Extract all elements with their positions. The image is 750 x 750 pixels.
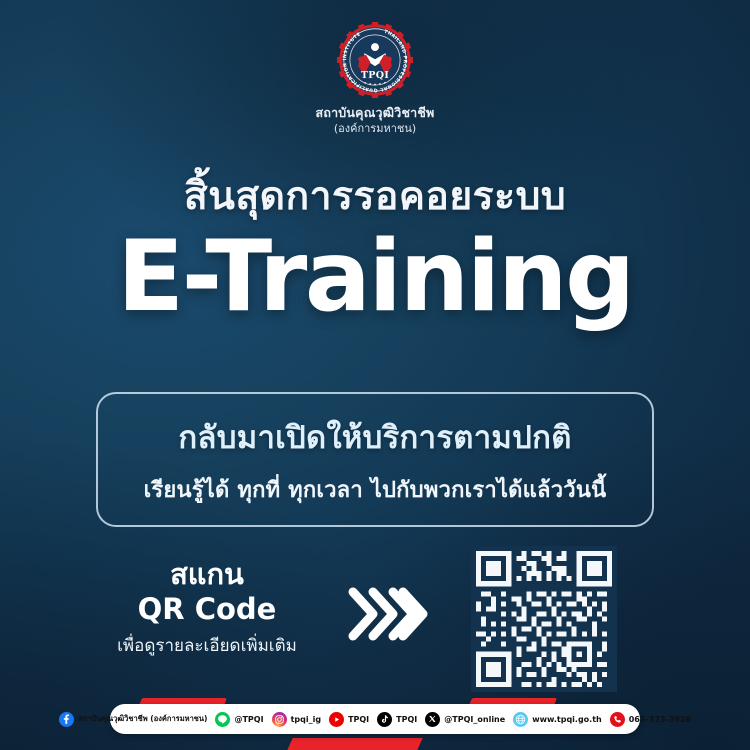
callout-main-text: กลับมาเปิดให้บริการตามปกติ: [178, 412, 571, 462]
social-link-instagram[interactable]: tpqi_ig: [272, 712, 322, 727]
youtube-icon: [329, 712, 344, 727]
org-type-th: (องค์การมหาชน): [0, 122, 750, 136]
social-links-pill: สถาบันคุณวุฒิวิชาชีพ (องค์การมหาชน)@TPQI…: [110, 704, 640, 734]
social-link-label: TPQI: [348, 715, 369, 724]
facebook-icon: [59, 712, 74, 727]
social-link-line[interactable]: @TPQI: [215, 712, 263, 727]
social-link-label: www.tpqi.go.th: [532, 715, 602, 724]
footer-bar: สถาบันคุณวุฒิวิชาชีพ (องค์การมหาชน)@TPQI…: [0, 692, 750, 750]
social-link-label: 063-373-3926: [629, 715, 691, 724]
svg-text:TPQI: TPQI: [361, 70, 389, 81]
tpqi-seal-logo-icon: THAILAND PROFESSIONAL QUALIFICATION INST…: [337, 22, 413, 98]
instagram-icon: [272, 712, 287, 727]
hero-kicker: สิ้นสุดการรอคอยระบบ: [0, 165, 750, 227]
scan-line-1: สแกน: [92, 558, 322, 590]
social-link-label: TPQI: [396, 715, 417, 724]
tiktok-icon: [377, 712, 392, 727]
chevron-right-quad-icon: [345, 582, 431, 650]
social-link-globe[interactable]: www.tpqi.go.th: [513, 712, 602, 727]
social-link-x-twitter[interactable]: @TPQI_online: [425, 712, 505, 727]
scan-instructions: สแกน QR Code เพื่อดูรายละเอียดเพิ่มเติม: [92, 558, 322, 659]
red-accent-bottom: [287, 738, 422, 750]
scan-line-2: QR Code: [92, 592, 322, 627]
social-link-phone[interactable]: 063-373-3926: [610, 712, 691, 727]
brand-header: THAILAND PROFESSIONAL QUALIFICATION INST…: [0, 22, 750, 136]
hero-headline: E-Training: [0, 228, 750, 326]
line-icon: [215, 712, 230, 727]
globe-icon: [513, 712, 528, 727]
social-link-label: สถาบันคุณวุฒิวิชาชีพ (องค์การมหาชน): [78, 713, 207, 725]
social-link-tiktok[interactable]: TPQI: [377, 712, 417, 727]
social-link-youtube[interactable]: TPQI: [329, 712, 369, 727]
org-name-th: สถาบันคุณวุฒิวิชาชีพ: [0, 105, 750, 122]
qr-section: สแกน QR Code เพื่อดูรายละเอียดเพิ่มเติม: [0, 552, 750, 702]
scan-line-3: เพื่อดูรายละเอียดเพิ่มเติม: [92, 632, 322, 659]
social-link-label: @TPQI: [234, 715, 263, 724]
social-link-label: @TPQI_online: [444, 715, 505, 724]
callout-sub-text: เรียนรู้ได้ ทุกที่ ทุกเวลา ไปกับพวกเราได…: [144, 472, 607, 507]
phone-icon: [610, 712, 625, 727]
callout-box: กลับมาเปิดให้บริการตามปกติ เรียนรู้ได้ ท…: [96, 392, 654, 527]
qr-code[interactable]: [471, 546, 617, 692]
x-twitter-icon: [425, 712, 440, 727]
social-link-label: tpqi_ig: [291, 715, 322, 724]
social-link-facebook[interactable]: สถาบันคุณวุฒิวิชาชีพ (องค์การมหาชน): [59, 712, 207, 727]
poster-canvas: THAILAND PROFESSIONAL QUALIFICATION INST…: [0, 0, 750, 750]
